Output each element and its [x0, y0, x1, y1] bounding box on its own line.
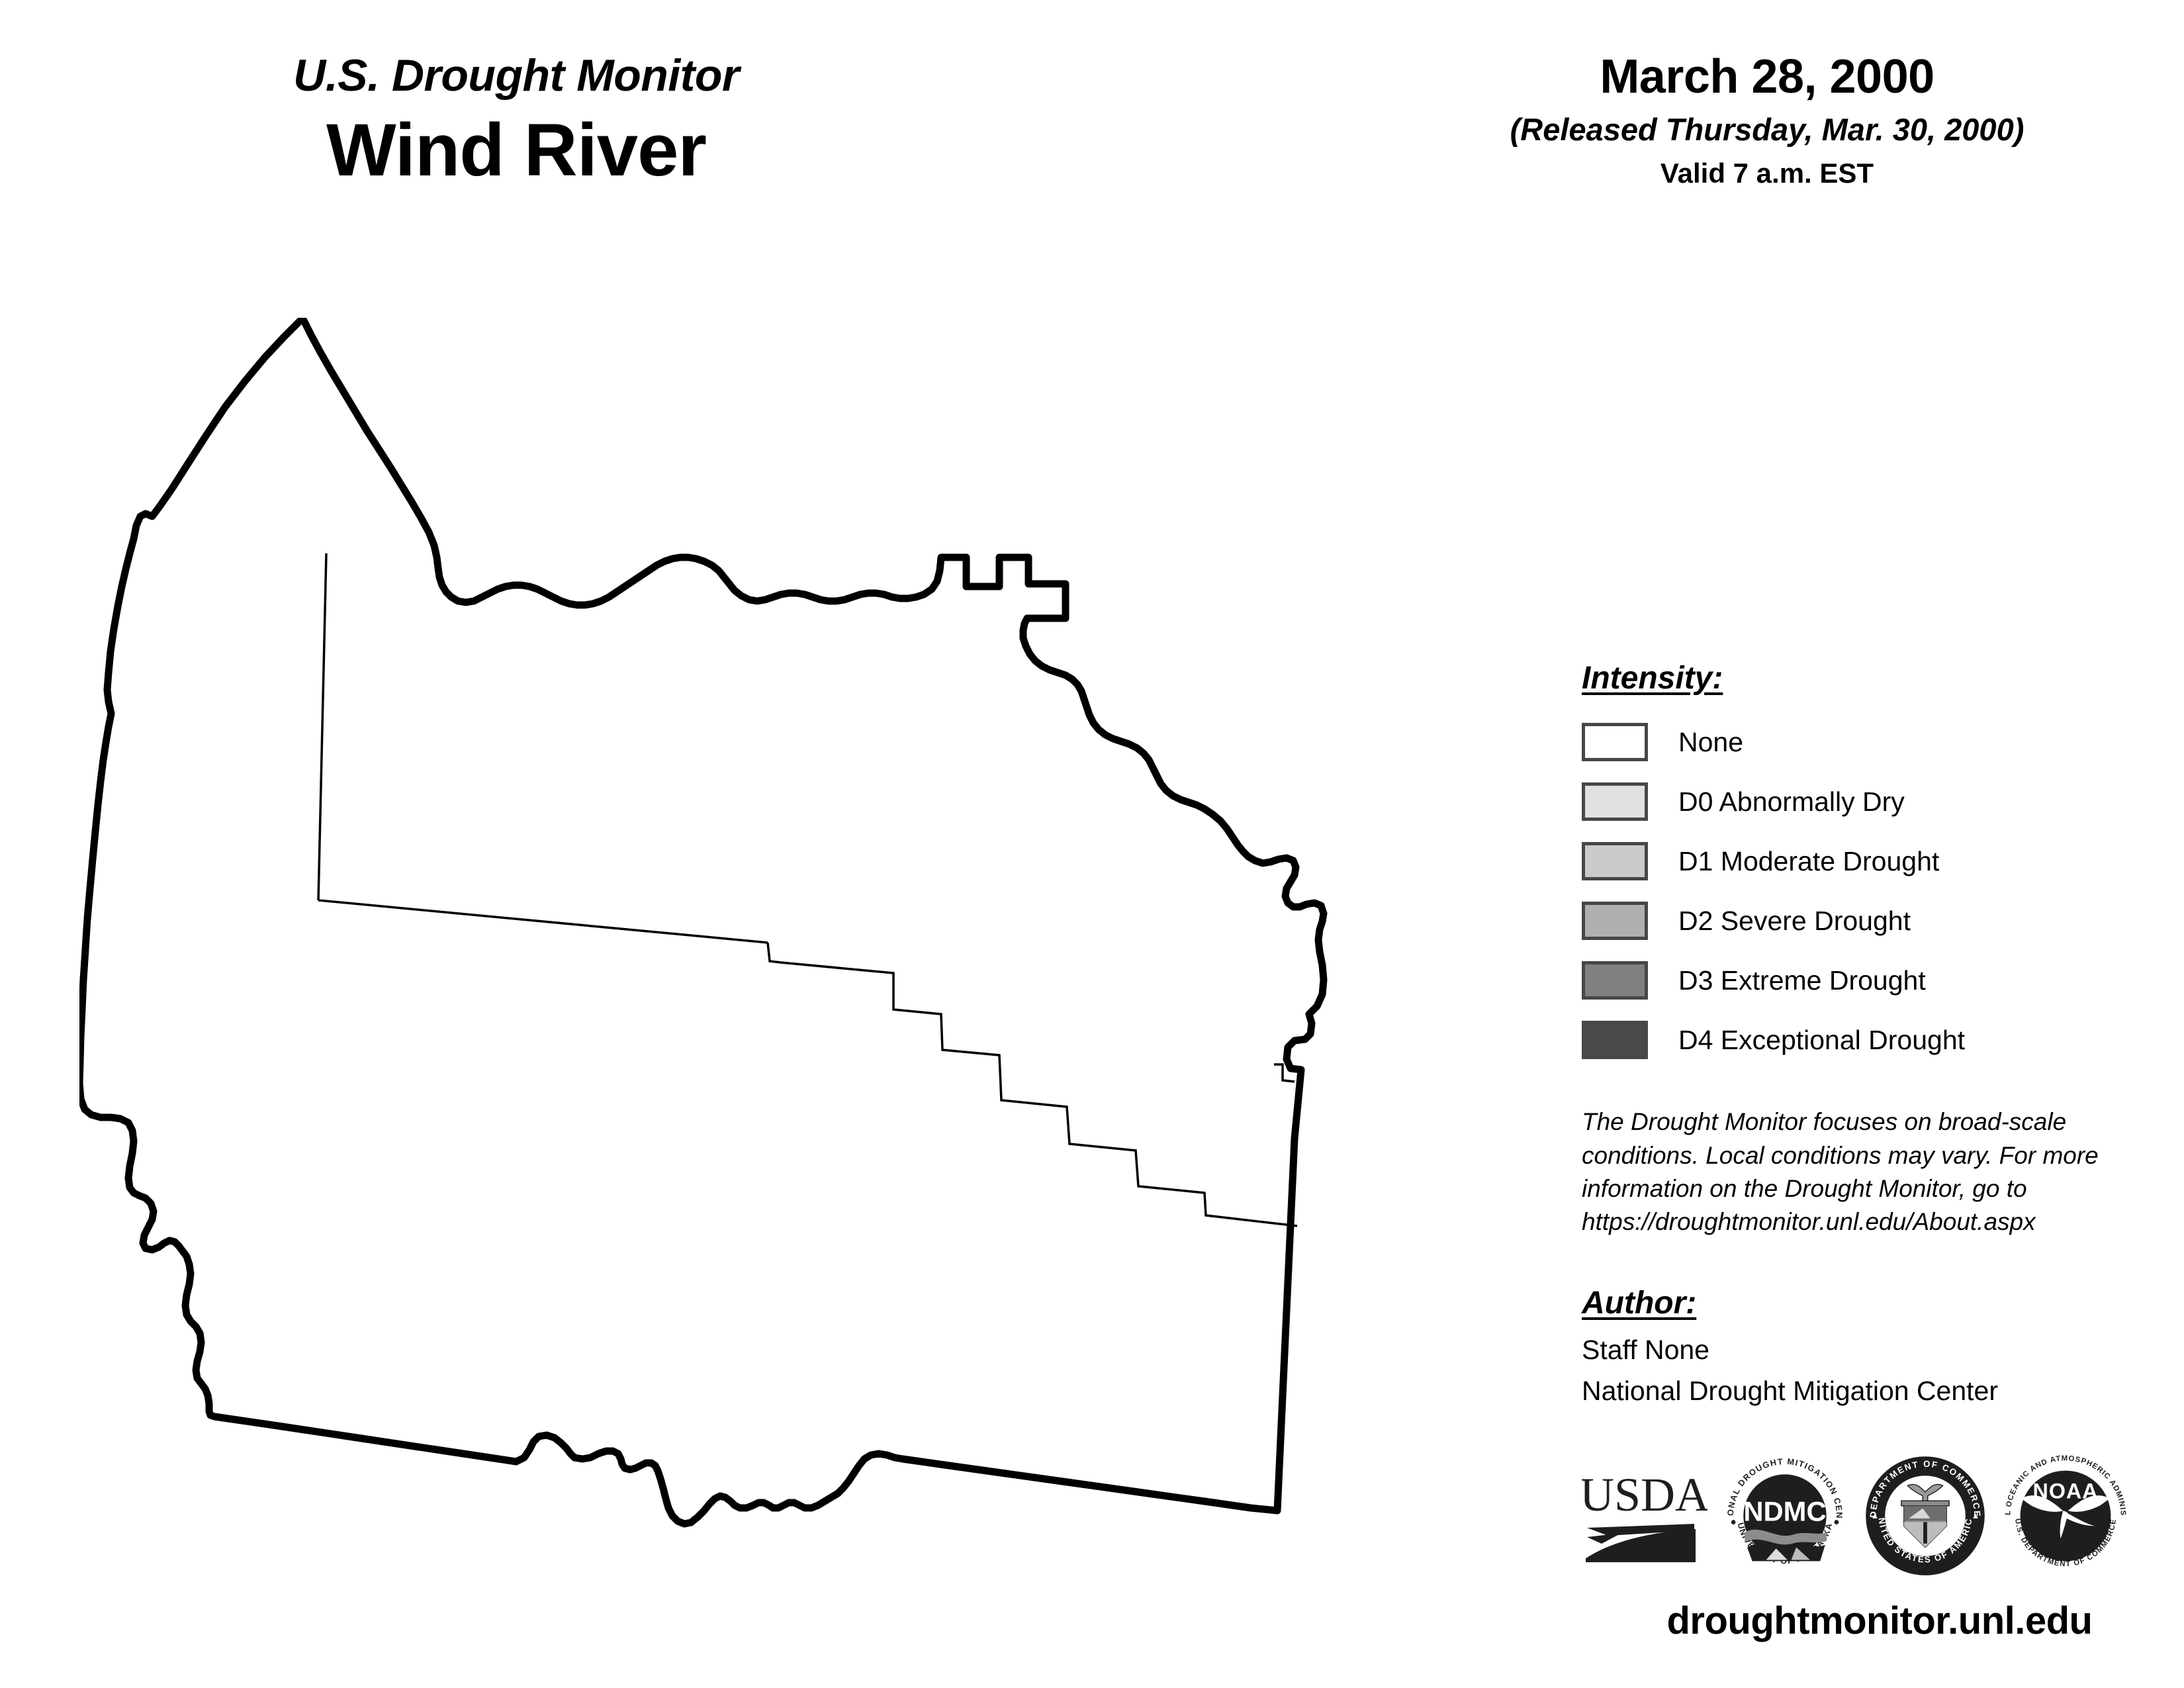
- region-outline-path: [79, 318, 1324, 1524]
- legend-label-d3: D3 Extreme Drought: [1678, 967, 1926, 994]
- release-date: (Released Thursday, Mar. 30, 2000): [1416, 114, 2118, 145]
- usda-logo[interactable]: USDA: [1582, 1462, 1707, 1574]
- author-name: Staff None: [1582, 1329, 2164, 1370]
- legend-label-d2: D2 Severe Drought: [1678, 908, 1911, 935]
- noaa-logo[interactable]: NATIONAL OCEANIC AND ATMOSPHERIC ADMINIS…: [2003, 1453, 2128, 1582]
- noaa-logo-svg: NATIONAL OCEANIC AND ATMOSPHERIC ADMINIS…: [2003, 1453, 2128, 1579]
- legend-item-d2[interactable]: D2 Severe Drought: [1582, 891, 2164, 951]
- valid-date: March 28, 2000: [1416, 53, 2118, 101]
- ndmc-logo[interactable]: NATIONAL DROUGHT MITIGATION CENTER UNIVE…: [1722, 1453, 1848, 1582]
- legend-swatch-d0: [1582, 782, 1648, 821]
- region-map[interactable]: [79, 318, 1522, 1615]
- legend-panel: Intensity: None D0 Abnormally Dry D1 Mod…: [1582, 662, 2164, 1412]
- disclaimer-text: The Drought Monitor focuses on broad-sca…: [1582, 1105, 2164, 1239]
- svg-text:NOAA: NOAA: [2033, 1479, 2099, 1503]
- department-of-commerce-logo[interactable]: DEPARTMENT OF COMMERCE UNITED STATES OF …: [1862, 1453, 1988, 1582]
- website-url[interactable]: droughtmonitor.unl.edu: [1582, 1599, 2177, 1643]
- legend-items-list: None D0 Abnormally Dry D1 Moderate Droug…: [1582, 712, 2164, 1070]
- legend-swatch-d4: [1582, 1021, 1648, 1059]
- legend-label-d0: D0 Abnormally Dry: [1678, 788, 1905, 816]
- legend-heading: Intensity:: [1582, 662, 1723, 695]
- page-title: Wind River: [0, 113, 1032, 188]
- legend-item-d1[interactable]: D1 Moderate Drought: [1582, 831, 2164, 891]
- legend-swatch-d2: [1582, 902, 1648, 940]
- title-block: U.S. Drought Monitor Wind River: [0, 53, 1032, 188]
- legend-label-none: None: [1678, 729, 1743, 756]
- author-organization: National Drought Mitigation Center: [1582, 1370, 2164, 1411]
- legend-item-d3[interactable]: D3 Extreme Drought: [1582, 951, 2164, 1010]
- partner-logos: USDA NATIONAL DROUGHT MITIGATION CENTER …: [1582, 1453, 2164, 1582]
- drought-monitor-page: U.S. Drought Monitor Wind River March 28…: [0, 0, 2184, 1688]
- valid-time: Valid 7 a.m. EST: [1416, 160, 2118, 187]
- legend-item-none[interactable]: None: [1582, 712, 2164, 772]
- legend-item-d0[interactable]: D0 Abnormally Dry: [1582, 772, 2164, 831]
- legend-label-d4: D4 Exceptional Drought: [1678, 1027, 1965, 1054]
- doc-logo-svg: DEPARTMENT OF COMMERCE UNITED STATES OF …: [1862, 1453, 1988, 1579]
- author-heading: Author:: [1582, 1287, 1696, 1320]
- ndmc-logo-svg: NATIONAL DROUGHT MITIGATION CENTER UNIVE…: [1722, 1453, 1848, 1579]
- legend-swatch-d3: [1582, 961, 1648, 1000]
- legend-swatch-d1: [1582, 842, 1648, 880]
- usda-logo-svg: USDA: [1582, 1462, 1707, 1571]
- author-block: Author: Staff None National Drought Miti…: [1582, 1287, 2164, 1412]
- legend-item-d4[interactable]: D4 Exceptional Drought: [1582, 1010, 2164, 1070]
- product-name: U.S. Drought Monitor: [0, 53, 1032, 98]
- svg-text:USDA: USDA: [1582, 1468, 1707, 1521]
- map-svg: [79, 318, 1522, 1615]
- date-block: March 28, 2000 (Released Thursday, Mar. …: [1416, 53, 2118, 187]
- svg-text:NDMC: NDMC: [1743, 1496, 1826, 1527]
- legend-swatch-none: [1582, 723, 1648, 761]
- legend-label-d1: D1 Moderate Drought: [1678, 848, 1939, 875]
